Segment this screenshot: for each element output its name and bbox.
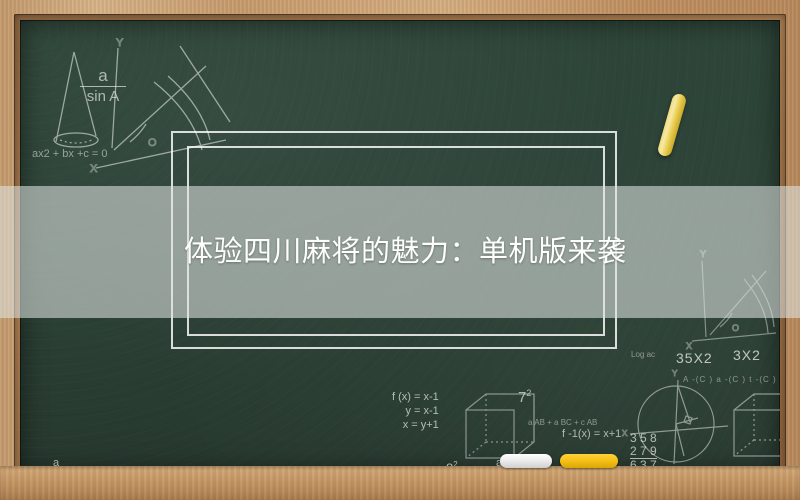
chalk-drawing-cube-right	[730, 390, 780, 472]
angle-label-o-right: O	[732, 323, 739, 333]
formula-inverse-fx: f -1(x) = x+1	[562, 428, 621, 440]
formula-x-eq: x = y+1	[392, 418, 439, 432]
fraction-bar	[80, 86, 126, 87]
angle-label-o: O	[148, 137, 157, 149]
chalk-stick-icon	[560, 454, 618, 468]
seven-exponent: 2	[526, 388, 531, 398]
chalk-ledge	[0, 466, 800, 500]
axis-label-y: Y	[116, 37, 124, 49]
axis-label-x: X	[90, 163, 98, 175]
digits-row-2: 2 7 9	[630, 445, 657, 459]
formula-y-eq: y = x-1	[392, 404, 439, 418]
label-log-ac: Log ac	[631, 350, 655, 359]
circle-axis-y: Y	[672, 369, 678, 378]
fraction-denominator: sin A	[80, 89, 126, 105]
formula-a-over-sinA-topleft: a sin A	[80, 68, 126, 105]
formula-misc-eq: a AB + a BC + c AB	[528, 418, 597, 427]
eraser-icon	[500, 454, 552, 468]
formula-quadratic: ax2 + bx +c = 0	[32, 148, 108, 160]
circle-axis-x: X	[622, 429, 628, 438]
formula-group-fx: f (x) = x-1 y = x-1 x = y+1	[392, 390, 439, 432]
fraction-numerator: a	[80, 68, 126, 84]
blackboard-banner: Y X O a sin A ax2 + bx +c = 0 Y X O	[0, 0, 800, 500]
formula-seven-squared: 72	[518, 388, 531, 406]
formula-fx: f (x) = x-1	[392, 390, 439, 404]
page-title: 体验四川麻将的魅力：单机版来袭	[184, 229, 627, 273]
